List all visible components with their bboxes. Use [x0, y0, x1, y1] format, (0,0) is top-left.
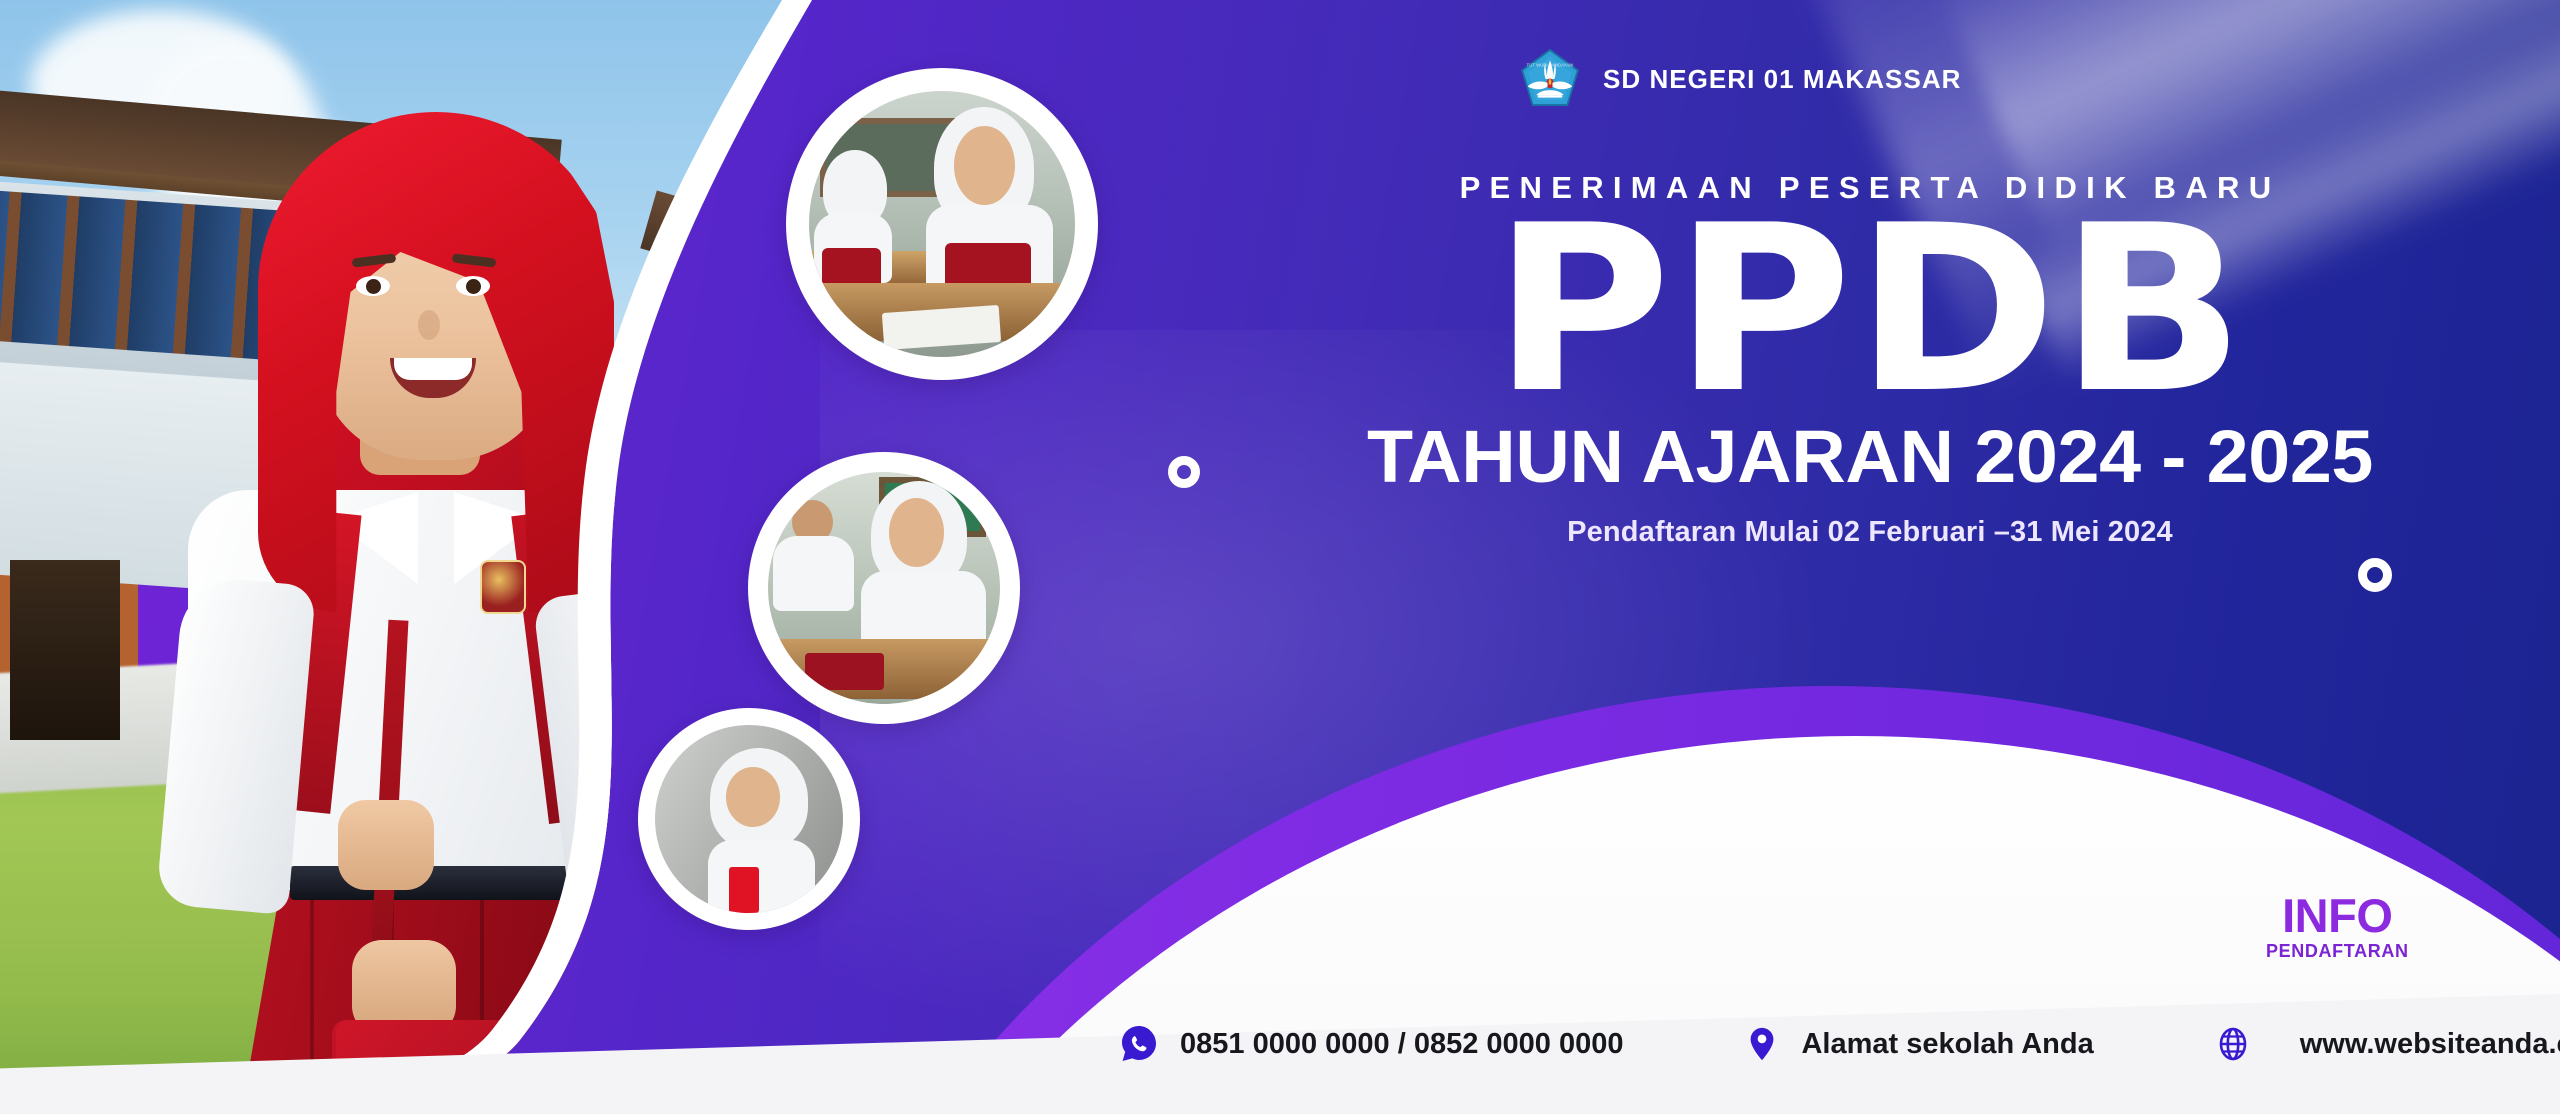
ppdb-banner: TUT WURI HANDAYANI SD NEGERI 01 MAKASSAR… — [0, 0, 2560, 1114]
student-in-photo — [773, 500, 861, 639]
info-badge: INFO PENDAFTARAN — [2266, 892, 2409, 962]
ring-decoration — [2358, 558, 2392, 592]
map-pin-icon — [1741, 1023, 1783, 1065]
registration-dates: Pendaftaran Mulai 02 Februari –31 Mei 20… — [1280, 516, 2460, 549]
collage-photo-3-image — [655, 725, 843, 913]
ppdb-wordmark: PPDB — [1245, 210, 2496, 412]
info-badge-subtitle: PENDAFTARAN — [2266, 941, 2409, 962]
headline-block: PENERIMAAN PESERTA DIDIK BARU PPDB TAHUN… — [1280, 170, 2460, 549]
body — [773, 536, 854, 611]
academic-year: TAHUN AJARAN 2024 - 2025 — [1268, 420, 2472, 494]
eye — [356, 276, 390, 296]
skirt — [805, 653, 884, 690]
school-name: SD NEGERI 01 MAKASSAR — [1603, 64, 1961, 95]
eye — [456, 276, 490, 296]
student-belt — [290, 866, 590, 900]
globe-icon — [2212, 1023, 2254, 1065]
contact-phone-label: 0851 0000 0000 / 0852 0000 0000 — [1180, 1028, 1623, 1061]
nose — [418, 310, 440, 340]
whatsapp-phone-icon — [1118, 1023, 1160, 1065]
brand-header: TUT WURI HANDAYANI SD NEGERI 01 MAKASSAR — [1519, 48, 1961, 110]
school-badge — [480, 560, 526, 614]
classroom-photo — [809, 91, 1075, 357]
contact-website-label: www.websiteanda.com — [2300, 1028, 2560, 1061]
classroom-photo — [768, 472, 1000, 704]
desk — [768, 639, 1000, 699]
face — [954, 126, 1015, 206]
contact-bar: 0851 0000 0000 / 0852 0000 0000 Alamat s… — [1110, 974, 2560, 1114]
face — [889, 498, 944, 566]
red-scarf — [729, 867, 759, 913]
collage-photo-2-image — [768, 472, 1000, 704]
pupil — [366, 279, 381, 294]
ring-decoration — [1168, 456, 1200, 488]
collage-photo-1 — [786, 68, 1098, 380]
pupil — [466, 279, 481, 294]
tut-wuri-handayani-emblem-icon: TUT WURI HANDAYANI — [1519, 48, 1581, 110]
contact-address-label: Alamat sekolah Anda — [1801, 1028, 2093, 1061]
contact-website[interactable]: www.websiteanda.com — [2212, 1023, 2560, 1065]
collage-photo-3 — [638, 708, 860, 930]
face — [726, 767, 780, 827]
portrait-photo — [655, 725, 843, 913]
teeth — [394, 358, 472, 380]
contact-phone[interactable]: 0851 0000 0000 / 0852 0000 0000 — [1118, 1023, 1623, 1065]
svg-text:TUT WURI HANDAYANI: TUT WURI HANDAYANI — [1527, 63, 1574, 68]
info-badge-title: INFO — [2266, 892, 2409, 939]
collage-photo-1-image — [809, 91, 1075, 357]
student-in-photo — [708, 748, 825, 913]
contact-address[interactable]: Alamat sekolah Anda — [1741, 1023, 2093, 1065]
body — [708, 840, 815, 913]
hand — [338, 800, 434, 890]
collage-photo-2 — [748, 452, 1020, 724]
